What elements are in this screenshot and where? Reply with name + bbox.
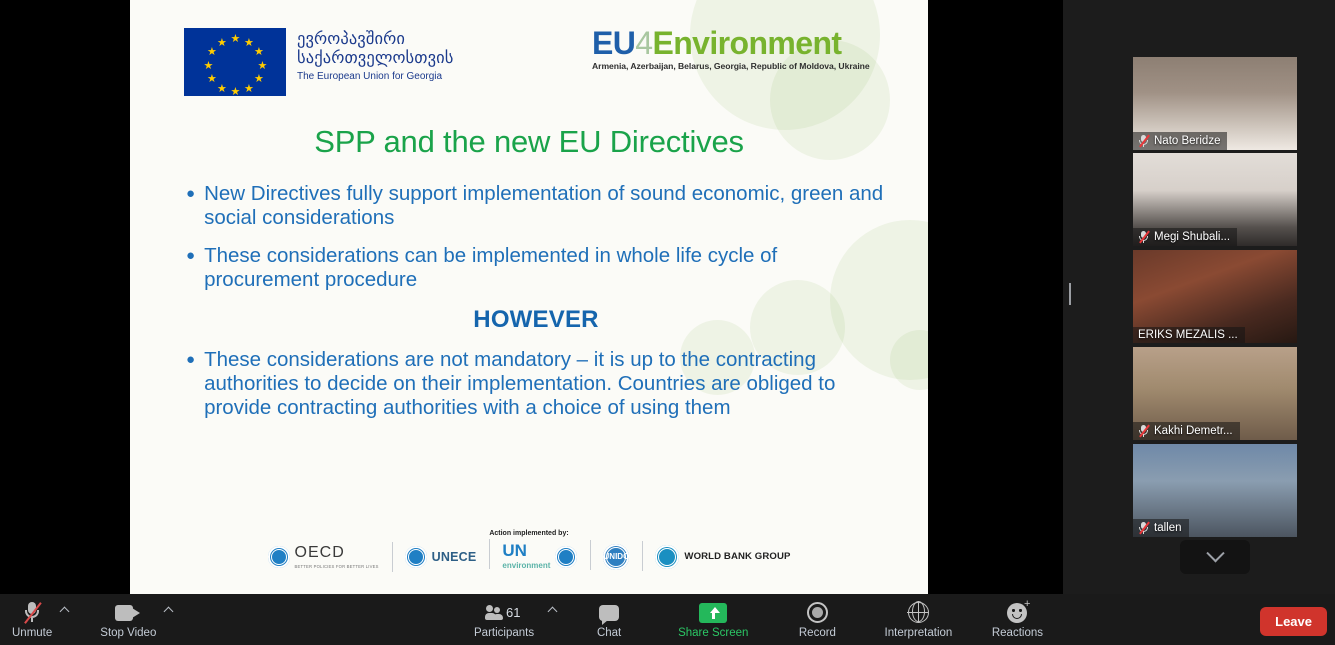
participants-count: 61 [506, 605, 520, 620]
eu4environment-logo: EU4Environment Armenia, Azerbaijan, Bela… [592, 26, 870, 71]
video-tile-active-speaker[interactable]: ERIKS MEZALIS ... [1133, 250, 1297, 343]
presentation-slide: ★ ★ ★ ★ ★ ★ ★ ★ ★ ★ ★ ★ [130, 0, 928, 594]
slide-bullet-text: These considerations can be implemented … [204, 244, 886, 292]
slide-header: ★ ★ ★ ★ ★ ★ ★ ★ ★ ★ ★ ★ [130, 0, 928, 112]
stop-video-button[interactable]: Stop Video [88, 594, 168, 645]
eu-logo-ka-line2: საქართველოსთვის [297, 49, 454, 68]
slide-emphasis-text: HOWEVER [186, 306, 886, 334]
partner-logo-oecd: OECD BETTER POLICIES FOR BETTER LIVES [255, 544, 392, 569]
partner-name: WORLD BANK GROUP [684, 551, 790, 562]
chat-bubble-icon [599, 601, 619, 625]
mic-muted-icon [22, 601, 42, 625]
participants-button[interactable]: 61 Participants [462, 594, 546, 645]
slide-bullet: ● These considerations are not mandatory… [186, 348, 886, 420]
reactions-label: Reactions [992, 627, 1043, 639]
mic-muted-icon [1138, 230, 1149, 244]
unido-globe-icon: UNIDO [603, 544, 629, 570]
participants-label: Participants [474, 627, 534, 639]
globe-icon [908, 601, 929, 625]
stop-video-label: Stop Video [100, 627, 156, 639]
audio-options-caret-icon[interactable] [60, 607, 70, 617]
chat-button[interactable]: Chat [578, 594, 640, 645]
participants-icon: 61 [486, 601, 522, 625]
leave-button[interactable]: Leave [1260, 607, 1327, 636]
participant-namebar: tallen [1133, 519, 1189, 537]
shared-screen-stage: ★ ★ ★ ★ ★ ★ ★ ★ ★ ★ ★ ★ [0, 0, 1063, 594]
unmute-label: Unmute [12, 627, 52, 639]
participant-namebar: ERIKS MEZALIS ... [1133, 327, 1245, 343]
slide-bullet-text: These considerations are not mandatory –… [204, 348, 886, 420]
oecd-globe-icon [268, 546, 290, 568]
eu-logo-en-line: The European Union for Georgia [297, 71, 454, 82]
participant-name: Nato Beridze [1154, 135, 1220, 147]
footer-caption: Action implemented by: [130, 530, 928, 537]
bullet-dot-icon: ● [186, 244, 195, 292]
record-label: Record [799, 627, 836, 639]
eu-flag-icon: ★ ★ ★ ★ ★ ★ ★ ★ ★ ★ ★ ★ [184, 28, 286, 96]
partner-name: OECD [295, 544, 345, 561]
partner-tagline: BETTER POLICIES FOR BETTER LIVES [295, 564, 379, 569]
share-screen-label: Share Screen [678, 627, 748, 639]
slide-bullet: ● These considerations can be implemente… [186, 244, 886, 292]
eu-georgia-logo: ★ ★ ★ ★ ★ ★ ★ ★ ★ ★ ★ ★ [184, 28, 454, 96]
partner-name: UN [502, 541, 527, 560]
slide-bullet-text: New Directives fully support implementat… [204, 182, 886, 230]
un-environment-globe-icon [555, 546, 577, 568]
mic-muted-icon [1138, 424, 1149, 438]
eu-logo-ka-line1: ევროპავშირი [297, 30, 454, 49]
share-screen-button[interactable]: Share Screen [666, 594, 760, 645]
bullet-dot-icon: ● [186, 182, 195, 230]
unmute-button[interactable]: Unmute [0, 594, 64, 645]
participants-options-caret-icon[interactable] [548, 607, 558, 617]
video-filmstrip: Nato Beridze Megi Shubali... ERIKS MEZAL… [1073, 0, 1335, 594]
world-bank-globe-icon [655, 545, 679, 569]
zoom-meeting-window: ★ ★ ★ ★ ★ ★ ★ ★ ★ ★ ★ ★ [0, 0, 1335, 645]
video-tile[interactable]: Megi Shubali... [1133, 153, 1297, 246]
partner-logo-un-environment: UN environment [489, 543, 590, 570]
participant-name: tallen [1154, 522, 1182, 534]
eu4env-eu: EU [592, 25, 635, 61]
slide-body: ● New Directives fully support implement… [186, 182, 886, 434]
partner-logo-unido: UNIDO [590, 544, 642, 570]
camera-icon [115, 601, 141, 625]
reactions-button[interactable]: + Reactions [978, 594, 1056, 645]
partner-name: UNECE [432, 550, 477, 564]
filmstrip-scroll-down-button[interactable] [1180, 540, 1250, 574]
participant-namebar: Kakhi Demetr... [1133, 422, 1240, 440]
slide-footer: Action implemented by: OECD BETTER POLIC… [130, 530, 928, 570]
partner-tagline: environment [502, 561, 550, 570]
interpretation-button[interactable]: Interpretation [870, 594, 966, 645]
partner-name: UNIDO [604, 552, 630, 561]
video-tile[interactable]: Kakhi Demetr... [1133, 347, 1297, 440]
mic-muted-icon [1138, 134, 1149, 148]
interpretation-label: Interpretation [885, 627, 953, 639]
meeting-toolbar: Unmute Stop Video 61 Participants [0, 594, 1335, 645]
chat-label: Chat [597, 627, 621, 639]
video-tile[interactable]: Nato Beridze [1133, 57, 1297, 150]
record-button[interactable]: Record [786, 594, 848, 645]
reactions-smiley-icon: + [1007, 601, 1027, 625]
video-options-caret-icon[interactable] [164, 607, 174, 617]
bullet-dot-icon: ● [186, 348, 195, 420]
participant-name: ERIKS MEZALIS ... [1138, 329, 1238, 341]
chevron-down-icon [1206, 544, 1224, 562]
un-emblem-icon [405, 546, 427, 568]
mic-muted-icon [1138, 521, 1149, 535]
partner-logo-world-bank-group: WORLD BANK GROUP [642, 545, 803, 569]
slide-title: SPP and the new EU Directives [130, 124, 928, 160]
eu4env-countries: Armenia, Azerbaijan, Belarus, Georgia, R… [592, 61, 870, 71]
eu4env-environment: Environment [652, 25, 841, 61]
participant-namebar: Nato Beridze [1133, 132, 1227, 150]
participant-name: Megi Shubali... [1154, 231, 1230, 243]
participant-name: Kakhi Demetr... [1154, 425, 1233, 437]
slide-bullet: ● New Directives fully support implement… [186, 182, 886, 230]
participant-namebar: Megi Shubali... [1133, 228, 1237, 246]
video-tile[interactable]: tallen [1133, 444, 1297, 537]
record-icon [807, 601, 828, 625]
eu4env-four: 4 [635, 25, 652, 61]
partner-logo-unece: UNECE [392, 546, 490, 568]
share-screen-icon [699, 601, 727, 625]
